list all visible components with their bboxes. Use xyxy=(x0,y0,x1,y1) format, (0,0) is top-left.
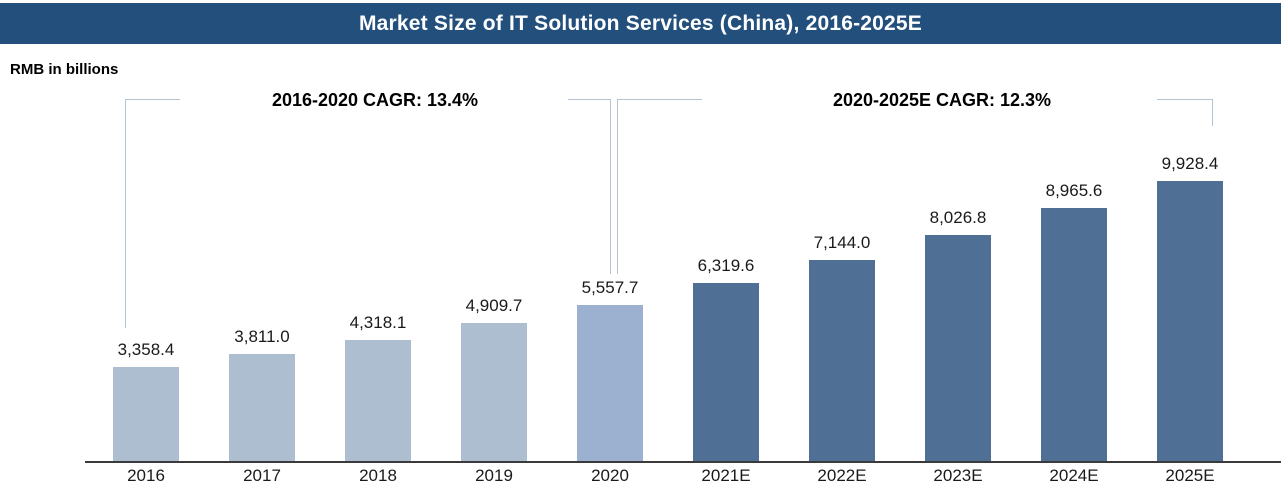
x-tick-2020: 2020 xyxy=(560,466,660,486)
bar-value-2024e: 8,965.6 xyxy=(1024,181,1124,201)
x-tick-2022e: 2022E xyxy=(792,466,892,486)
bar-chart-plot: 2016-2020 CAGR: 13.4% 2020-2025E CAGR: 1… xyxy=(0,0,1281,491)
bar-value-2023e: 8,026.8 xyxy=(908,208,1008,228)
x-tick-2023e: 2023E xyxy=(908,466,1008,486)
bar-2023e[interactable] xyxy=(925,235,991,462)
bar-value-2019: 4,909.7 xyxy=(444,296,544,316)
x-axis-line xyxy=(85,461,1281,463)
x-tick-2019: 2019 xyxy=(444,466,544,486)
x-tick-2017: 2017 xyxy=(212,466,312,486)
x-tick-2024e: 2024E xyxy=(1024,466,1124,486)
x-tick-2025e: 2025E xyxy=(1140,466,1240,486)
bar-value-2016: 3,358.4 xyxy=(96,340,196,360)
bar-2017[interactable] xyxy=(229,354,295,462)
bar-value-2021e: 6,319.6 xyxy=(676,256,776,276)
bar-value-2020: 5,557.7 xyxy=(560,278,660,298)
bar-2021e[interactable] xyxy=(693,283,759,462)
bar-value-2018: 4,318.1 xyxy=(328,313,428,333)
bar-2025e[interactable] xyxy=(1157,181,1223,462)
x-tick-2016: 2016 xyxy=(96,466,196,486)
bar-2022e[interactable] xyxy=(809,260,875,462)
x-tick-2018: 2018 xyxy=(328,466,428,486)
bar-2018[interactable] xyxy=(345,340,411,462)
bar-value-2022e: 7,144.0 xyxy=(792,233,892,253)
x-tick-2021e: 2021E xyxy=(676,466,776,486)
bar-2024e[interactable] xyxy=(1041,208,1107,462)
bar-2019[interactable] xyxy=(461,323,527,462)
bar-value-2025e: 9,928.4 xyxy=(1140,154,1240,174)
bar-value-2017: 3,811.0 xyxy=(212,327,312,347)
bar-2020[interactable] xyxy=(577,305,643,462)
bar-2016[interactable] xyxy=(113,367,179,462)
cagr-label-2020-2025: 2020-2025E CAGR: 12.3% xyxy=(752,90,1132,111)
cagr-label-2016-2020: 2016-2020 CAGR: 13.4% xyxy=(195,90,555,111)
